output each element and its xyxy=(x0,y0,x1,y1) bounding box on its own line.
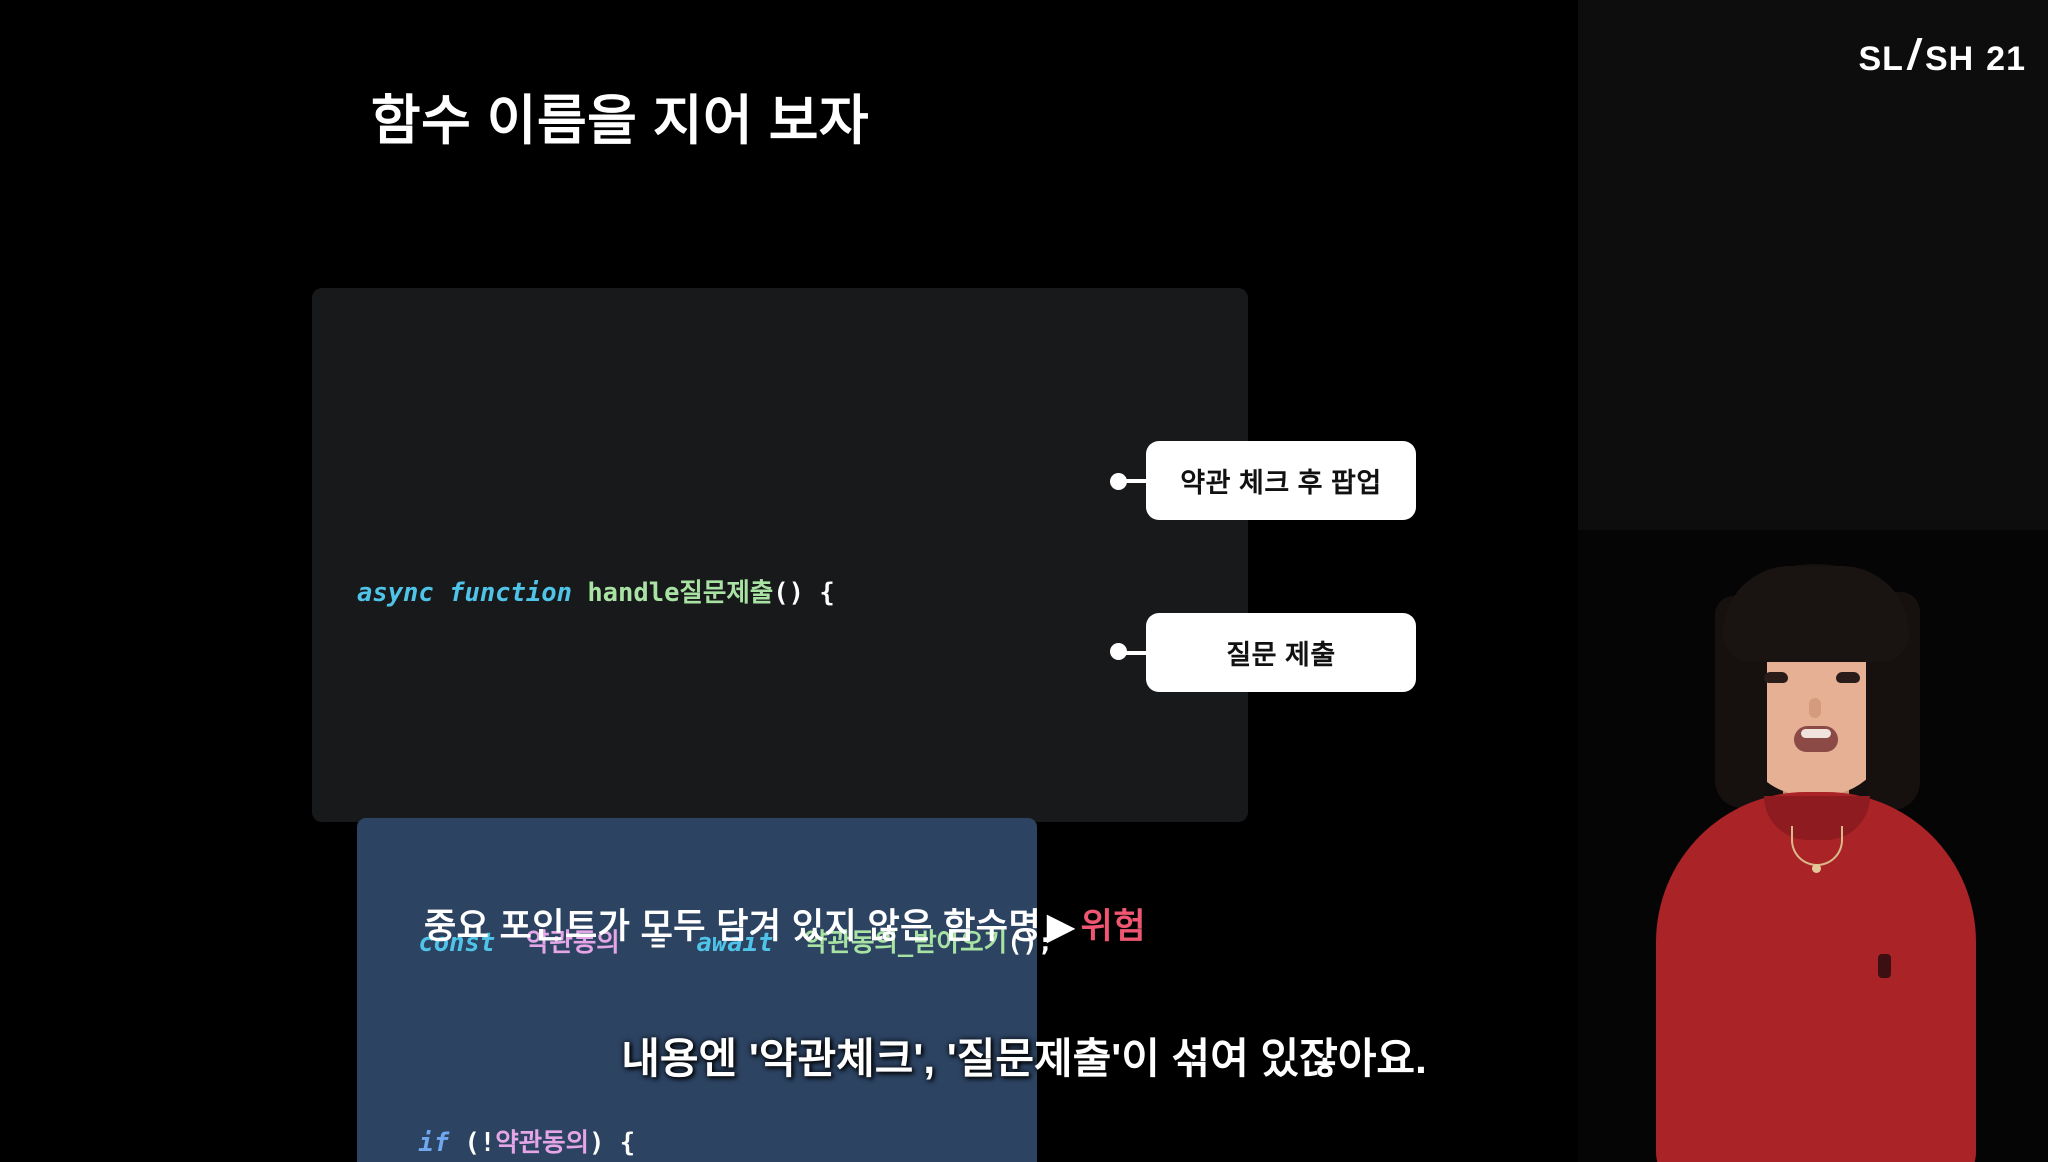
sp6 xyxy=(604,1128,619,1158)
screen-root: 함수 이름을 지어 보자 async function handle질문제출()… xyxy=(0,0,2048,1162)
logo-slash-glyph-icon xyxy=(1904,36,1925,70)
slash21-logo: SLSH21 xyxy=(1858,36,2026,79)
code-line-3: if (!약관동의) { xyxy=(357,1118,1037,1162)
callout-terms-check: 약관 체크 후 팝업 xyxy=(1146,441,1416,520)
bottom-note: 중요 포인트가 모두 담겨 있지 않은 함수명▶위험 xyxy=(0,898,1570,949)
logo-text-sh: SH xyxy=(1925,40,1974,79)
presenter-nose xyxy=(1809,698,1821,718)
video-column: SLSH21 xyxy=(1578,0,2048,1162)
token-brace-open-2: { xyxy=(620,1128,635,1158)
token-keyword-async: async xyxy=(357,578,434,608)
presenter-eye-left xyxy=(1764,672,1788,683)
bottom-note-text: 중요 포인트가 모두 담겨 있지 않은 함수명 xyxy=(424,907,1041,946)
token-parens: () xyxy=(773,578,804,608)
token-keyword-if: if xyxy=(418,1128,449,1158)
logo-text-sl: SL xyxy=(1858,40,1903,79)
logo-text-number: 21 xyxy=(1986,40,2026,79)
indent-2 xyxy=(357,1128,418,1158)
token-space2 xyxy=(572,578,587,608)
highlight-band-terms-check: const 약관동의 = await 약관동의_받아오기(); if (!약관동… xyxy=(357,818,1037,1162)
code-line-1: async function handle질문제출() { xyxy=(357,568,1238,618)
code-panel: async function handle질문제출() { const 약관동의… xyxy=(312,288,1248,822)
subtitle-caption: 내용엔 '약관체크', '질문제출'이 섞여 있잖아요. xyxy=(0,1025,2048,1086)
token-brace-open: { xyxy=(819,578,834,608)
token-space3 xyxy=(804,578,819,608)
token-function-name: handle질문제출 xyxy=(587,578,773,608)
presenter-bangs xyxy=(1723,566,1909,662)
presenter-mouth xyxy=(1794,726,1838,752)
presenter-sweater-badge xyxy=(1878,954,1891,978)
token-close-paren: ) xyxy=(589,1128,604,1158)
token-open-negate: (! xyxy=(465,1128,496,1158)
token-keyword-function: function xyxy=(449,578,572,608)
slide-area: 함수 이름을 지어 보자 async function handle질문제출()… xyxy=(0,0,1578,1162)
sp5 xyxy=(449,1128,464,1158)
video-top-panel: SLSH21 xyxy=(1578,0,2048,530)
presenter-pendant xyxy=(1812,864,1821,873)
token-variable-agree-2: 약관동의 xyxy=(495,1128,589,1158)
presenter-eye-right xyxy=(1836,672,1860,683)
callout-submit-question: 질문 제출 xyxy=(1146,613,1416,692)
arrow-icon: ▶ xyxy=(1047,907,1074,946)
bottom-note-danger: 위험 xyxy=(1081,907,1146,946)
token-space xyxy=(434,578,449,608)
page-title: 함수 이름을 지어 보자 xyxy=(0,92,1240,151)
